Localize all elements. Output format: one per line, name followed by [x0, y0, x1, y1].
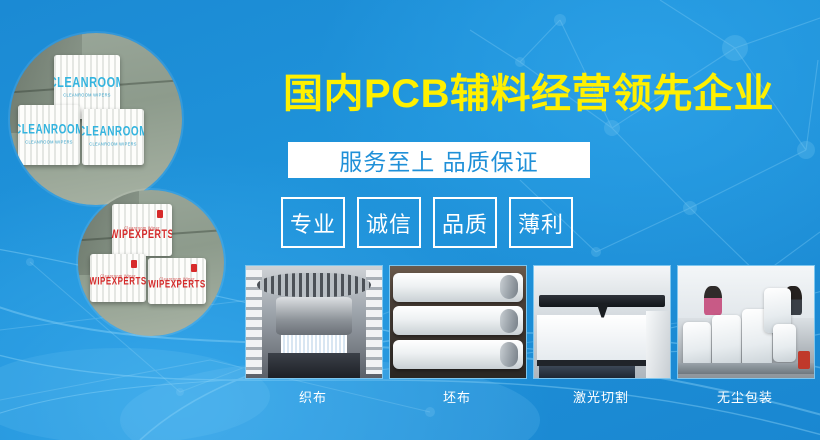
- process-photo-frame: [389, 265, 527, 379]
- cleanroom-packing-photo: [678, 266, 814, 378]
- product-photo-cleanroom: CLEANROOM CLEANROOM WIPERS CLEANROOM CLE…: [10, 33, 182, 205]
- subtitle-text: 服务至上 品质保证: [339, 143, 538, 177]
- process-photo-item-packing[interactable]: 无尘包装: [677, 265, 813, 406]
- wipexperts-package: Cleanroom Wiper WIPEXPERTS: [112, 204, 172, 256]
- process-photo-item-laser[interactable]: 激光切割: [533, 265, 669, 406]
- laser-cutter-photo: [534, 266, 670, 378]
- wipexperts-package: Cleanroom Wiper WIPEXPERTS: [148, 258, 206, 304]
- package-subtitle: CLEANROOM WIPERS: [63, 91, 110, 97]
- wipexperts-package: Cleanroom Wiper WIPEXPERTS: [90, 254, 146, 302]
- package-brand: WIPEXPERTS: [112, 228, 172, 240]
- package-subtitle: CLEANROOM WIPERS: [25, 139, 72, 145]
- package-brand: WIPEXPERTS: [148, 280, 205, 291]
- promotional-banner: CLEANROOM CLEANROOM WIPERS CLEANROOM CLE…: [0, 0, 820, 440]
- product-photo-wipexperts: Cleanroom Wiper WIPEXPERTS Cleanroom Wip…: [78, 190, 224, 336]
- feature-tag-list: 专业 诚信 品质 薄利: [281, 197, 573, 248]
- knitting-machine-photo: [246, 266, 382, 378]
- package-brand: CLEANROOM: [82, 126, 144, 140]
- package-subtitle: CLEANROOM WIPERS: [89, 141, 136, 147]
- process-photo-caption: 织布: [245, 387, 381, 406]
- process-photo-caption: 激光切割: [533, 387, 669, 406]
- process-photo-caption: 坯布: [389, 387, 525, 406]
- feature-tag-baoli[interactable]: 薄利: [509, 197, 573, 248]
- feature-tag-label: 专业: [290, 207, 336, 239]
- process-photo-caption: 无尘包装: [677, 387, 813, 406]
- subtitle-bar: 服务至上 品质保证: [288, 142, 590, 178]
- feature-tag-zhuanye[interactable]: 专业: [281, 197, 345, 248]
- banner-headline: 国内PCB辅料经营领先企业: [283, 74, 783, 114]
- process-photo-frame: [533, 265, 671, 379]
- feature-tag-chengxin[interactable]: 诚信: [357, 197, 421, 248]
- feature-tag-label: 诚信: [366, 207, 412, 239]
- feature-tag-label: 品质: [442, 207, 488, 239]
- process-photo-item-weaving[interactable]: 织布: [245, 265, 381, 406]
- package-brand: CLEANROOM: [18, 124, 80, 138]
- feature-tag-pinzhi[interactable]: 品质: [433, 197, 497, 248]
- process-photo-frame: [677, 265, 815, 379]
- cleanroom-package: CLEANROOM CLEANROOM WIPERS: [82, 109, 144, 165]
- package-brand: WIPEXPERTS: [90, 277, 146, 288]
- cleanroom-package: CLEANROOM CLEANROOM WIPERS: [18, 105, 80, 165]
- process-photo-frame: [245, 265, 383, 379]
- process-photo-item-greige[interactable]: 坯布: [389, 265, 525, 406]
- fabric-rolls-photo: [390, 266, 526, 378]
- process-photo-strip: 织布 坯布 激光切割: [245, 265, 813, 406]
- package-brand: CLEANROOM: [54, 76, 120, 91]
- feature-tag-label: 薄利: [518, 207, 564, 239]
